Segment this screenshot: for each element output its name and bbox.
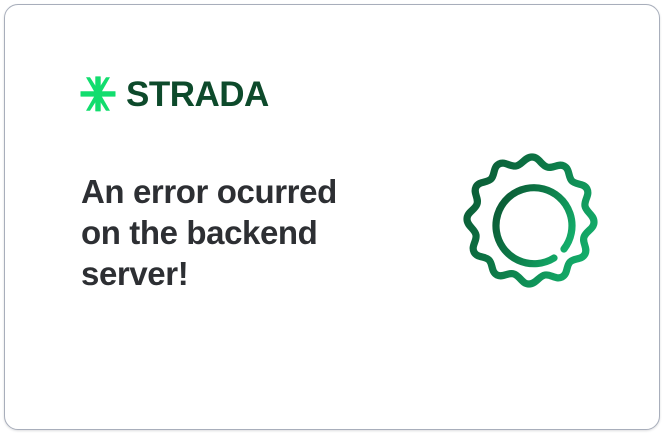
strada-asterisk-icon: [79, 75, 117, 113]
error-message: An error ocurred on the backend server!: [81, 171, 381, 294]
brand-name: STRADA: [126, 77, 269, 112]
brand-lockup: STRADA: [79, 75, 269, 113]
error-card: STRADA An error ocurred on the backend s…: [4, 4, 660, 430]
